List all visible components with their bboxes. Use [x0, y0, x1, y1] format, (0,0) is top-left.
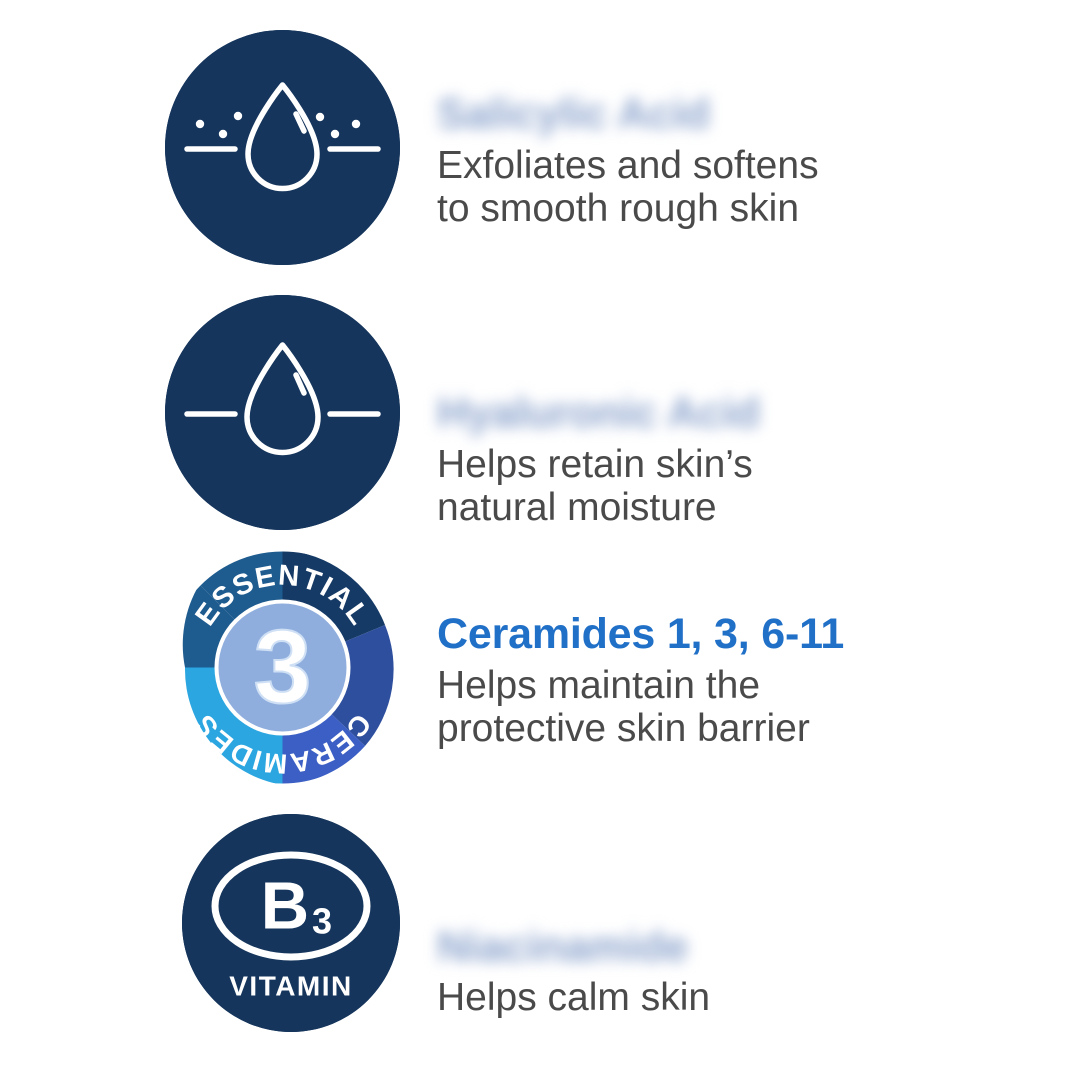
ingredient-heading-salicylic: Salicylic Acid — [437, 92, 1080, 138]
ingredient-row-niacinamide: B 3 VITAMIN Niacinamide Helps calm skin — [0, 815, 1080, 1030]
icon-cell-hyaluronic — [0, 295, 400, 530]
vitamin-b3-icon: B 3 VITAMIN — [182, 814, 400, 1032]
ingredient-heading-hyaluronic: Hyaluronic Acid — [437, 391, 1080, 437]
ingredient-description-niacinamide: Helps calm skin — [437, 976, 1080, 1020]
text-cell-niacinamide: Niacinamide Helps calm skin — [400, 925, 1080, 1020]
ingredient-description-hyaluronic: Helps retain skin’s natural moisture — [437, 443, 1080, 530]
ingredient-description-salicylic: Exfoliates and softens to smooth rough s… — [437, 144, 1080, 231]
ingredient-row-hyaluronic: Hyaluronic Acid Helps retain skin’s natu… — [0, 295, 1080, 530]
ingredient-benefits-infographic: Salicylic Acid Exfoliates and softens to… — [0, 0, 1080, 1080]
text-cell-salicylic: Salicylic Acid Exfoliates and softens to… — [400, 92, 1080, 231]
ingredient-heading-ceramides: Ceramides 1, 3, 6-11 — [437, 612, 1080, 658]
text-cell-hyaluronic: Hyaluronic Acid Helps retain skin’s natu… — [400, 391, 1080, 530]
ingredient-heading-niacinamide: Niacinamide — [437, 925, 1080, 971]
ingredient-row-salicylic: Salicylic Acid Exfoliates and softens to… — [0, 30, 1080, 265]
ingredient-description-ceramides: Helps maintain the protective skin barri… — [437, 664, 1080, 751]
icon-cell-niacinamide: B 3 VITAMIN — [0, 814, 400, 1032]
ingredient-row-ceramides: ESSENTIAL CERAMIDES 3 Ceramides 1, 3, 6-… — [0, 550, 1080, 785]
icon-cell-ceramides: ESSENTIAL CERAMIDES 3 — [0, 550, 400, 785]
essential-3-ceramides-badge-icon: ESSENTIAL CERAMIDES 3 — [165, 550, 400, 785]
droplet-hydration-icon — [165, 295, 400, 530]
vitamin-b3-subscript: 3 — [312, 900, 332, 941]
vitamin-b3-letter: B — [261, 868, 309, 943]
badge-center-number: 3 — [254, 610, 312, 726]
droplet-exfoliating-skin-icon — [165, 30, 400, 265]
vitamin-caption: VITAMIN — [229, 970, 353, 1001]
text-cell-ceramides: Ceramides 1, 3, 6-11 Helps maintain the … — [400, 612, 1080, 751]
icon-cell-salicylic — [0, 30, 400, 265]
